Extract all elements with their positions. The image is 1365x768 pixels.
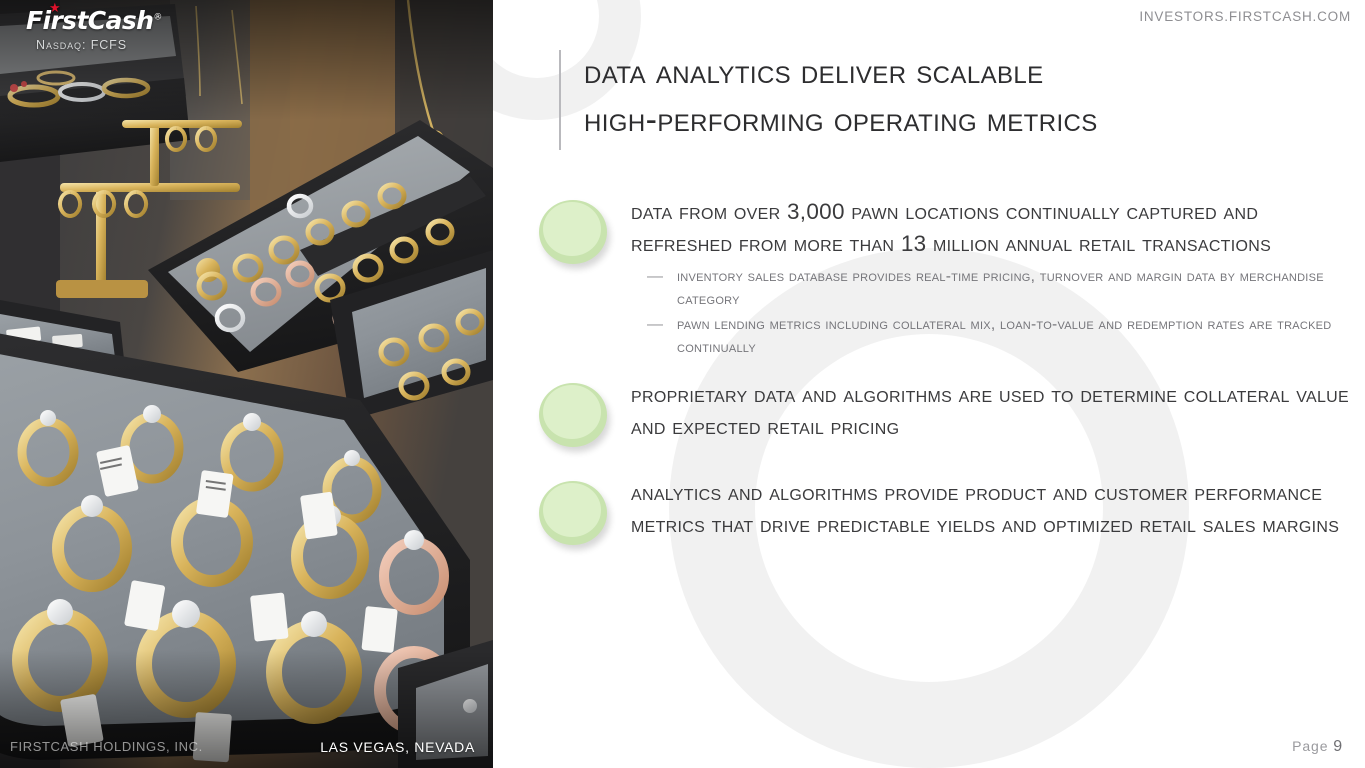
investor-url[interactable]: INVESTORS.FIRSTCASH.COM (1139, 9, 1351, 24)
photo-location-text: Las Vegas, Nevada (320, 739, 475, 755)
green-circle-bullet-icon (539, 481, 607, 545)
page-label: Page (1292, 738, 1328, 754)
sub-bullet-text: Pawn lending metrics including collatera… (677, 316, 1331, 356)
page-number: 9 (1333, 738, 1343, 755)
title-line-1: Data Analytics Deliver Scalable (584, 53, 1044, 91)
registered-mark-icon: ® (153, 13, 161, 23)
list-item: Proprietary data and algorithms are used… (539, 379, 1349, 443)
photo-location-caption: Las Vegas, Nevada (320, 739, 475, 755)
dash-marker-icon: — (647, 314, 663, 337)
ticker-prefix: N (36, 38, 46, 52)
slide-title-block: Data Analytics Deliver Scalable High-Per… (559, 48, 1349, 144)
green-circle-bullet-icon (539, 383, 607, 447)
bullet-text: Data from over 3,000 pawn locations cont… (539, 196, 1349, 260)
firstcash-logo: FirstCash® ★ Nasdaq: FCFS (26, 8, 256, 52)
sub-list-item: — Inventory sales database provides real… (647, 266, 1349, 311)
sub-list-item: — Pawn lending metrics including collate… (647, 314, 1349, 359)
list-item: Analytics and algorithms provide product… (539, 477, 1349, 541)
sub-bullet-text: Inventory sales database provides real-t… (677, 268, 1324, 308)
list-item: Data from over 3,000 pawn locations cont… (539, 196, 1349, 359)
jewelry-showcase-image (0, 0, 493, 768)
title-accent-rule (559, 50, 561, 150)
photo-footer: FirstCash Holdings, Inc. Las Vegas, Neva… (0, 726, 493, 768)
ticker-rest: asdaq: (46, 38, 91, 52)
bullet-text: Analytics and algorithms provide product… (539, 477, 1349, 541)
ticker-label: Nasdaq: FCFS (36, 38, 256, 52)
company-name-text: FirstCash Holdings, Inc. (10, 739, 203, 754)
page-title: Data Analytics Deliver Scalable High-Per… (559, 48, 1349, 144)
presentation-slide: FirstCash® ★ Nasdaq: FCFS FirstCash Hold… (0, 0, 1365, 768)
sub-bullet-list: — Inventory sales database provides real… (539, 266, 1349, 359)
ticker-symbol: FCFS (91, 38, 127, 52)
slide-content-panel: INVESTORS.FIRSTCASH.COM Data Analytics D… (493, 0, 1365, 768)
logo-wordmark: FirstCash® ★ (26, 8, 162, 33)
company-name-footer: FirstCash Holdings, Inc. (10, 739, 203, 754)
logo-text: FirstCash (26, 6, 153, 35)
bullet-text: Proprietary data and algorithms are used… (539, 379, 1349, 443)
title-line-2: High-Performing Operating Metrics (584, 101, 1098, 139)
bullet-list: Data from over 3,000 pawn locations cont… (539, 196, 1349, 541)
green-circle-bullet-icon (539, 200, 607, 264)
dash-marker-icon: — (647, 266, 663, 289)
page-number-indicator: Page 9 (1292, 738, 1343, 756)
jewelry-photo-panel: FirstCash® ★ Nasdaq: FCFS FirstCash Hold… (0, 0, 493, 768)
star-icon: ★ (49, 3, 60, 14)
